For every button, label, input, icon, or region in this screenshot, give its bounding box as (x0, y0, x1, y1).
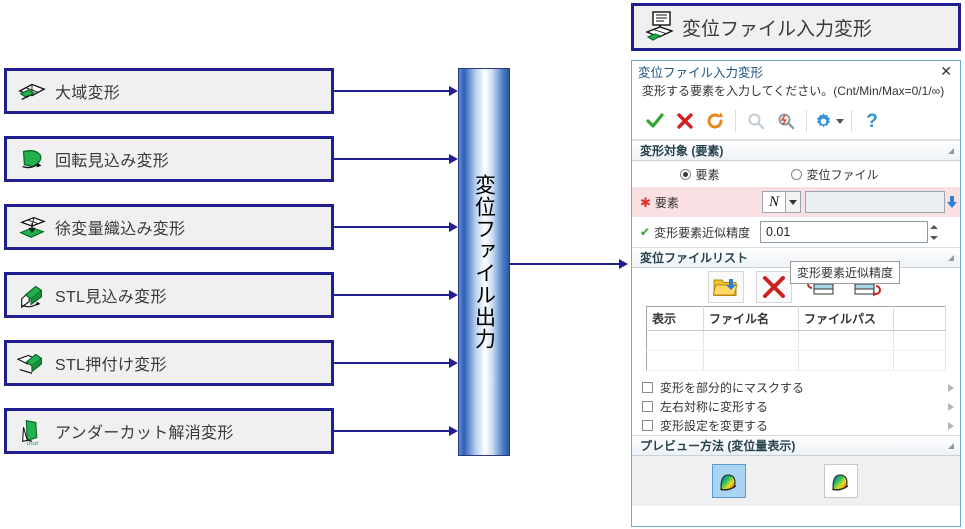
expand-triangle-icon[interactable] (948, 403, 954, 411)
radio-option-element[interactable]: 要素 (640, 166, 760, 183)
option-label: 左右対称に変形する (660, 398, 941, 415)
column-header-extra[interactable] (894, 307, 946, 331)
field-label-text: 変形要素近似精度 (654, 224, 750, 241)
required-marker: ✱ (640, 196, 651, 209)
flow-box-label: 徐変量織込み変形 (55, 215, 185, 239)
section-title: プレビュー方法 (変位量表示) (640, 437, 948, 454)
toolbar-separator (851, 110, 852, 132)
flow-box-label: 回転見込み変形 (55, 147, 169, 171)
radio-label: 変位ファイル (806, 166, 878, 183)
panel-title-box: 変位ファイル入力変形 (631, 3, 961, 51)
open-folder-icon[interactable] (708, 271, 744, 303)
option-row-symmetry[interactable]: 左右対称に変形する (632, 397, 960, 416)
radio-option-displacement-file[interactable]: 変位ファイル (760, 166, 910, 183)
cylinder-label: 変位ファイル出力 (474, 174, 495, 350)
cell (647, 351, 704, 371)
dialog-message: 変形する要素を入力してください。(Cnt/Min/Max=0/1/∞) (632, 81, 960, 103)
connector-line-output (510, 263, 620, 265)
delete-x-icon[interactable] (756, 271, 792, 303)
flow-box-label: 大域変形 (55, 79, 120, 103)
connector-line-4 (334, 294, 450, 296)
option-label: 変形設定を変更する (660, 417, 941, 434)
cell (894, 351, 946, 371)
expand-triangle-icon[interactable] (948, 422, 954, 430)
precision-spinner[interactable] (928, 221, 940, 243)
cell (799, 351, 894, 371)
collapse-triangle-icon[interactable] (948, 255, 954, 261)
column-header-filepath[interactable]: ファイルパス (799, 307, 894, 331)
cell (647, 331, 704, 351)
selection-type-button[interactable]: N (762, 191, 786, 213)
settings-dropdown-caret-icon[interactable] (834, 106, 846, 136)
cell (704, 331, 799, 351)
flow-box-label: STL押付け変形 (55, 351, 167, 375)
dialog-toolbar: ? (632, 103, 960, 140)
svg-text:Ucut: Ucut (26, 441, 38, 446)
table-header-row: 表示 ファイル名 ファイルパス (647, 307, 946, 331)
field-label-text: 要素 (655, 194, 679, 211)
connector-line-5 (334, 362, 450, 364)
connector-arrow-6 (449, 426, 458, 436)
ok-check-icon[interactable] (640, 106, 670, 136)
close-icon[interactable]: ✕ (938, 64, 954, 78)
precision-field-label: ✔ 変形要素近似精度 (640, 224, 760, 241)
table-row[interactable] (647, 351, 946, 371)
precision-input[interactable]: 0.01 (760, 221, 928, 243)
quick-search-icon (771, 106, 801, 136)
connector-arrow-3 (449, 222, 458, 232)
radio-indicator (680, 169, 691, 180)
process-flow-diagram: 大域変形 回転見込み変形 徐変量織込み変形 STL見込み変形 (0, 0, 340, 529)
flow-box-label: アンダーカット解消変形 (55, 419, 234, 443)
dialog-titlebar: 変位ファイル入力変形 ✕ (632, 61, 960, 81)
connector-arrow-output (619, 259, 628, 269)
settings-gear-icon[interactable] (812, 106, 834, 136)
collapse-triangle-icon[interactable] (948, 148, 954, 154)
connector-arrow-2 (449, 154, 458, 164)
connector-line-6 (334, 430, 450, 432)
flow-box-stl-springback[interactable]: STL見込み変形 (4, 272, 334, 318)
flow-box-global-deform[interactable]: 大域変形 (4, 68, 334, 114)
valid-check-icon: ✔ (640, 225, 650, 239)
checkbox-indicator[interactable] (642, 401, 653, 412)
selection-type-caret-icon[interactable] (786, 191, 801, 213)
connector-line-3 (334, 226, 450, 228)
collapse-triangle-icon[interactable] (948, 443, 954, 449)
displacement-file-output-node: 変位ファイル出力 (458, 68, 510, 456)
flow-box-label: STL見込み変形 (55, 283, 167, 307)
element-field-label: ✱ 要素 (640, 194, 762, 211)
dialog-title: 変位ファイル入力変形 (638, 62, 938, 81)
stl-press-icon (17, 348, 47, 378)
option-row-mask[interactable]: 変形を部分的にマスクする (632, 378, 960, 397)
checkbox-indicator[interactable] (642, 382, 653, 393)
help-question-icon[interactable]: ? (857, 106, 887, 136)
flow-box-gradual-deform[interactable]: 徐変量織込み変形 (4, 204, 334, 250)
section-title: 変形対象 (要素) (640, 142, 948, 159)
cell (704, 351, 799, 371)
target-type-radio-group: 要素 変位ファイル (632, 161, 960, 187)
displacement-file-input-dialog: 変位ファイル入力変形 ✕ 変形する要素を入力してください。(Cnt/Min/Ma… (631, 60, 961, 527)
zoom-search-icon (741, 106, 771, 136)
preview-method-row (632, 456, 960, 506)
toolbar-separator (806, 110, 807, 132)
column-header-display[interactable]: 表示 (647, 307, 704, 331)
option-label: 変形を部分的にマスクする (660, 379, 941, 396)
expand-triangle-icon[interactable] (948, 384, 954, 392)
checkbox-indicator[interactable] (642, 420, 653, 431)
stl-springback-icon (17, 280, 47, 310)
connector-arrow-4 (449, 290, 458, 300)
connector-line-1 (334, 90, 450, 92)
toolbar-separator (735, 110, 736, 132)
section-header-target[interactable]: 変形対象 (要素) (632, 140, 960, 161)
reset-undo-icon[interactable] (700, 106, 730, 136)
connector-arrow-5 (449, 358, 458, 368)
element-selection-row: ✱ 要素 N (632, 187, 960, 217)
flow-box-rotation-springback[interactable]: 回転見込み変形 (4, 136, 334, 182)
cancel-x-icon[interactable] (670, 106, 700, 136)
radio-indicator (791, 169, 802, 180)
global-deform-icon (17, 76, 47, 106)
precision-tooltip: 変形要素近似精度 (790, 261, 900, 284)
section-header-preview[interactable]: プレビュー方法 (変位量表示) (632, 435, 960, 456)
filelist-table[interactable]: 表示 ファイル名 ファイルパス (646, 306, 946, 371)
displacement-file-input-icon (644, 10, 676, 44)
rotation-springback-icon (17, 144, 47, 174)
preview-mode-2-icon[interactable] (824, 464, 858, 498)
panel-title-text: 変位ファイル入力変形 (682, 14, 872, 41)
table-row[interactable] (647, 331, 946, 351)
cylinder-shape: 変位ファイル出力 (458, 68, 510, 456)
connector-line-2 (334, 158, 450, 160)
down-arrow-icon[interactable] (945, 191, 959, 213)
radio-label: 要素 (695, 166, 719, 183)
cell (799, 331, 894, 351)
connector-arrow-1 (449, 86, 458, 96)
flow-box-undercut-release[interactable]: Ucut アンダーカット解消変形 (4, 408, 334, 454)
cell (894, 331, 946, 351)
gradual-deform-icon (17, 212, 47, 242)
option-row-settings[interactable]: 変形設定を変更する (632, 416, 960, 435)
undercut-release-icon: Ucut (17, 416, 47, 446)
preview-mode-1-icon[interactable] (712, 464, 746, 498)
element-selection-input[interactable] (805, 191, 945, 213)
column-header-filename[interactable]: ファイル名 (704, 307, 799, 331)
precision-row: ✔ 変形要素近似精度 0.01 (632, 217, 960, 247)
flow-box-stl-press[interactable]: STL押付け変形 (4, 340, 334, 386)
